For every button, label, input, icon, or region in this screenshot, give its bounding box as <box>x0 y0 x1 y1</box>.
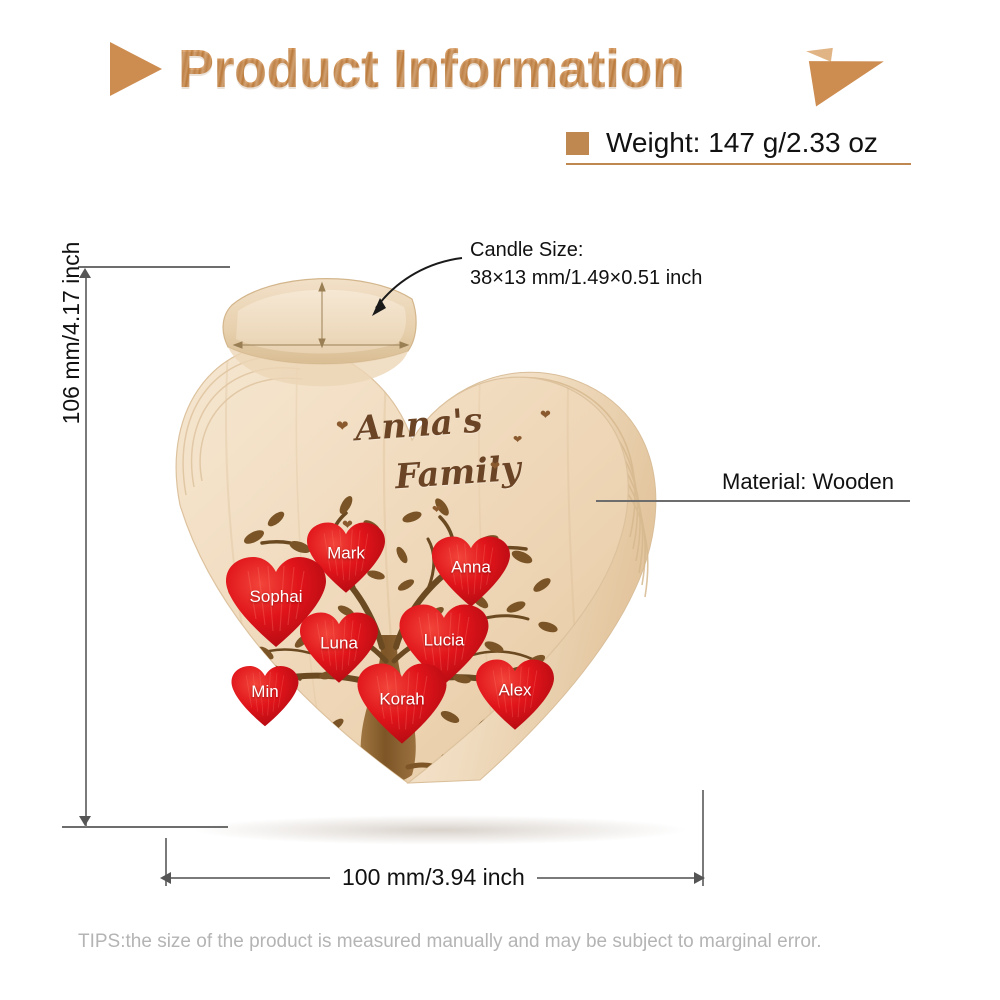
name-heart-min[interactable]: Min <box>232 666 299 724</box>
height-arrow-down-icon <box>79 816 91 826</box>
material-leader-line <box>596 500 910 502</box>
triangle-right-icon-2 <box>809 49 889 106</box>
weight-label: Weight: 147 g/2.33 oz <box>606 127 878 159</box>
mini-heart-icon-2: ❤ <box>540 407 551 423</box>
name-heart-label: Lucia <box>424 630 465 650</box>
candle-callout-arrow <box>350 248 470 328</box>
height-tick-top <box>78 266 230 268</box>
name-heart-label: Anna <box>451 557 491 577</box>
width-dimension-label: 100 mm/3.94 inch <box>330 864 537 891</box>
triangle-right-icon <box>110 42 162 96</box>
square-bullet-icon <box>566 132 589 155</box>
candle-size-annotation: Candle Size: 38×13 mm/1.49×0.51 inch <box>470 236 702 293</box>
mini-heart-icon-5: ❤ <box>432 503 441 516</box>
tips-note: TIPS:the size of the product is measured… <box>78 931 821 953</box>
product-image: Anna's Family ❤ ❤ ❤ ❤ ❤ ❤ MarkAnnaSophai… <box>150 255 730 855</box>
name-heart-label: Mark <box>327 543 365 563</box>
mini-heart-icon-4: ❤ <box>490 459 500 473</box>
height-dimension-label: 106 mm/4.17 inch <box>58 218 85 448</box>
name-heart-alex[interactable]: Alex <box>476 660 554 727</box>
mini-heart-icon-3: ❤ <box>513 433 522 446</box>
name-heart-korah[interactable]: Korah <box>358 664 447 741</box>
product-shadow <box>190 815 690 845</box>
width-arrow-left-icon <box>160 872 171 884</box>
height-dimension-line <box>85 275 87 827</box>
candle-size-value: 38×13 mm/1.49×0.51 inch <box>470 264 702 292</box>
page-title: Product Information <box>178 38 684 100</box>
name-heart-anna[interactable]: Anna <box>432 537 510 604</box>
weight-spec-row: Weight: 147 g/2.33 oz <box>566 127 878 159</box>
candle-size-label: Candle Size: <box>470 239 583 261</box>
height-tick-bottom <box>62 826 228 828</box>
name-heart-label: Min <box>251 682 278 702</box>
mini-heart-icon: ❤ <box>336 417 349 435</box>
name-heart-label: Alex <box>498 680 531 700</box>
infographic-canvas: Product Information Weight: 147 g/2.33 o… <box>0 0 1000 1000</box>
name-heart-label: Luna <box>320 633 358 653</box>
material-annotation: Material: Wooden <box>722 466 894 497</box>
name-heart-label: Korah <box>379 689 424 709</box>
name-heart-label: Sophai <box>250 587 303 607</box>
width-arrow-right-icon <box>694 872 705 884</box>
weight-underline <box>566 163 911 165</box>
